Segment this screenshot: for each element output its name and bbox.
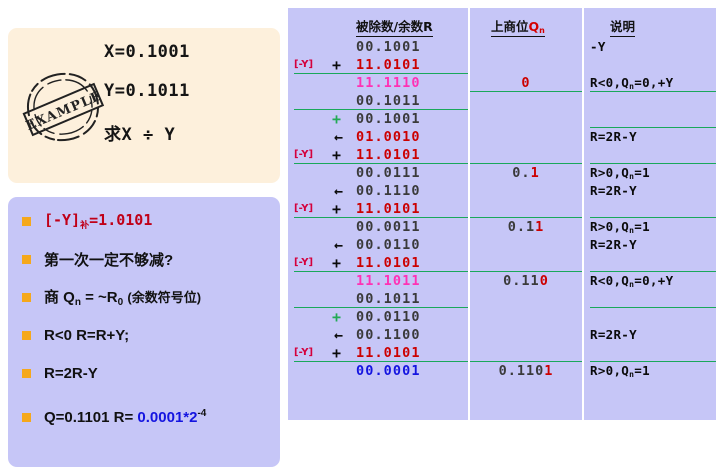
q-subscript: n xyxy=(629,370,634,379)
table-row: 11.10110.110R<0,Qn=0,+Y xyxy=(288,272,716,290)
plus-operator-icon: + xyxy=(332,254,341,272)
plus-operator-icon: + xyxy=(332,200,341,218)
table-row: 00.00110.11R>0,Qn=1 xyxy=(288,218,716,236)
cell-dividend-remainder: +00.1001 xyxy=(288,110,468,128)
cell-explanation: R=2R-Y xyxy=(590,128,716,146)
bullet-square-icon xyxy=(22,413,31,422)
left-shift-arrow-icon: ← xyxy=(334,128,343,146)
cell-dividend-remainder: [-Y]+11.0101 xyxy=(288,56,468,74)
note-parenthetical: (余数符号位) xyxy=(127,290,201,305)
cell-dividend-remainder: 00.0001 xyxy=(288,362,468,380)
neg-y-tag: [-Y] xyxy=(294,200,313,218)
cell-quotient-bit xyxy=(470,254,582,272)
note-first-step-question: 第一次一定不够减? xyxy=(22,249,173,269)
notes-card: [-Y]补=1.0101 第一次一定不够减? 商 Qn = ~R0 (余数符号位… xyxy=(8,197,280,467)
cell-explanation xyxy=(590,92,716,110)
table-row: 00.1001-Y xyxy=(288,38,716,56)
binary-value: 11.0101 xyxy=(356,200,421,218)
note-text: R=2R-Y xyxy=(44,365,98,382)
subscript-bu: 补 xyxy=(80,221,89,231)
table-row: +00.1001 xyxy=(288,110,716,128)
quotient-new-bit: 1 xyxy=(544,363,553,379)
binary-value: 00.0111 xyxy=(356,164,421,182)
equation-y: Y=0.1011 xyxy=(104,81,280,101)
quotient-new-bit: 0 xyxy=(521,75,530,91)
header-q-subscript: n xyxy=(539,26,545,35)
left-shift-arrow-icon: ← xyxy=(334,182,343,200)
cell-quotient-bit xyxy=(470,128,582,146)
header-explanation: 说明 xyxy=(610,16,635,37)
cell-quotient-bit xyxy=(470,290,582,308)
cell-dividend-remainder: 00.0111 xyxy=(288,164,468,182)
task-expression: X ÷ Y xyxy=(122,125,176,145)
plus-operator-icon: + xyxy=(332,308,341,326)
cell-quotient-bit xyxy=(470,236,582,254)
cell-dividend-remainder: ←00.0110 xyxy=(288,236,468,254)
cell-quotient-bit: 0.1101 xyxy=(470,362,582,380)
binary-value: 00.1011 xyxy=(356,290,421,308)
binary-value: 00.1110 xyxy=(356,182,421,200)
header-dividend-remainder: 被除数/余数R xyxy=(356,16,433,37)
table-row: [-Y]+11.0101 xyxy=(288,344,716,362)
cell-explanation xyxy=(590,110,716,128)
binary-value: 11.1011 xyxy=(356,272,421,290)
equation-x: X=0.1001 xyxy=(104,42,280,62)
binary-value: 00.0110 xyxy=(356,236,421,254)
cell-quotient-bit xyxy=(470,200,582,218)
cell-explanation xyxy=(590,254,716,272)
cell-quotient-bit xyxy=(470,326,582,344)
binary-value: 00.0110 xyxy=(356,308,421,326)
table-row: ←00.0110R=2R-Y xyxy=(288,236,716,254)
cell-explanation: R>0,Qn=1 xyxy=(590,362,716,380)
cell-explanation: -Y xyxy=(590,38,716,56)
cell-explanation: R<0,Qn=0,+Y xyxy=(590,272,716,290)
cell-quotient-bit xyxy=(470,110,582,128)
binary-value: 11.0101 xyxy=(356,344,421,362)
binary-value: 00.1001 xyxy=(356,38,421,56)
neg-y-tag: [-Y] xyxy=(294,56,313,74)
note-quotient-rule: 商 Qn = ~R0 (余数符号位) xyxy=(22,287,201,307)
equation-task: 求X ÷ Y xyxy=(104,120,280,145)
cell-explanation xyxy=(590,308,716,326)
bullet-square-icon xyxy=(22,331,31,340)
binary-value: 11.0101 xyxy=(356,146,421,164)
note-text: Q=0.1101 R= 0.0001*2-4 xyxy=(44,408,206,426)
left-shift-arrow-icon: ← xyxy=(334,326,343,344)
note-text: 第一次一定不够减? xyxy=(44,249,173,270)
cell-dividend-remainder: 11.1011 xyxy=(288,272,468,290)
cell-dividend-remainder: ←01.0010 xyxy=(288,128,468,146)
quotient-new-bit: 1 xyxy=(531,165,540,181)
cell-explanation: R>0,Qn=1 xyxy=(590,218,716,236)
table-row: 00.1011 xyxy=(288,92,716,110)
binary-value: 00.1001 xyxy=(356,110,421,128)
left-shift-arrow-icon: ← xyxy=(334,236,343,254)
neg-y-tag: [-Y] xyxy=(294,254,313,272)
bullet-square-icon xyxy=(22,255,31,264)
table-row: +00.0110 xyxy=(288,308,716,326)
result-remainder: 0.0001*2 xyxy=(137,409,197,426)
cell-quotient-bit: 0.110 xyxy=(470,272,582,290)
table-row: [-Y]+11.0101 xyxy=(288,200,716,218)
table-row: [-Y]+11.0101 xyxy=(288,56,716,74)
header-q-symbol: Q xyxy=(529,19,540,34)
cell-quotient-bit xyxy=(470,92,582,110)
table-row: 00.00010.1101R>0,Qn=1 xyxy=(288,362,716,380)
quotient-prefix: 0.110 xyxy=(499,363,545,379)
cell-explanation: R>0,Qn=1 xyxy=(590,164,716,182)
binary-value: 11.0101 xyxy=(356,254,421,272)
note-text: R<0 R=R+Y; xyxy=(44,327,129,344)
note-text: [-Y]补=1.0101 xyxy=(44,211,152,231)
table-row: 00.1011 xyxy=(288,290,716,308)
binary-value: 11.1110 xyxy=(356,74,421,92)
cell-dividend-remainder: +00.0110 xyxy=(288,308,468,326)
cell-dividend-remainder: 00.1011 xyxy=(288,92,468,110)
subscript-0: 0 xyxy=(118,297,124,308)
bullet-square-icon xyxy=(22,369,31,378)
binary-value: 00.1100 xyxy=(356,326,421,344)
quotient-new-bit: 1 xyxy=(535,219,544,235)
note-negative-remainder-rule: R<0 R=R+Y; xyxy=(22,325,129,345)
cell-explanation: R=2R-Y xyxy=(590,236,716,254)
cell-dividend-remainder: 00.0011 xyxy=(288,218,468,236)
cell-dividend-remainder: 11.1110 xyxy=(288,74,468,92)
division-trace-table: 被除数/余数R 上商位Qn 说明 00.1001-Y[-Y]+11.010111… xyxy=(288,8,716,420)
quotient-new-bit: 0 xyxy=(540,273,549,289)
q-subscript: n xyxy=(629,280,634,289)
plus-operator-icon: + xyxy=(332,344,341,362)
binary-value: 00.0001 xyxy=(356,362,421,380)
table-row: 00.01110.1R>0,Qn=1 xyxy=(288,164,716,182)
header-quotient-bit: 上商位Qn xyxy=(491,16,545,37)
cell-dividend-remainder: ←00.1100 xyxy=(288,326,468,344)
cell-quotient-bit: 0.1 xyxy=(470,164,582,182)
table-row: 11.11100R<0,Qn=0,+Y xyxy=(288,74,716,92)
note-shift-rule: R=2R-Y xyxy=(22,363,98,383)
binary-value: 11.0101 xyxy=(356,56,421,74)
cell-quotient-bit xyxy=(470,308,582,326)
neg-y-tag: [-Y] xyxy=(294,344,313,362)
neg-y-tag: [-Y] xyxy=(294,146,313,164)
cell-explanation: R=2R-Y xyxy=(590,182,716,200)
cell-dividend-remainder: [-Y]+11.0101 xyxy=(288,344,468,362)
result-exponent: -4 xyxy=(197,408,206,419)
binary-value: 00.0011 xyxy=(356,218,421,236)
cell-explanation xyxy=(590,56,716,74)
plus-operator-icon: + xyxy=(332,56,341,74)
subscript-n: n xyxy=(75,297,81,308)
table-row: ←00.1100R=2R-Y xyxy=(288,326,716,344)
cell-quotient-bit xyxy=(470,146,582,164)
cell-explanation xyxy=(590,290,716,308)
cell-dividend-remainder: ←00.1110 xyxy=(288,182,468,200)
cell-explanation xyxy=(590,344,716,362)
table-row: ←01.0010R=2R-Y xyxy=(288,128,716,146)
q-subscript: n xyxy=(629,82,634,91)
q-subscript: n xyxy=(629,172,634,181)
cell-quotient-bit xyxy=(470,182,582,200)
plus-operator-icon: + xyxy=(332,110,341,128)
plus-operator-icon: + xyxy=(332,146,341,164)
cell-dividend-remainder: [-Y]+11.0101 xyxy=(288,146,468,164)
bullet-square-icon xyxy=(22,293,31,302)
note-result: Q=0.1101 R= 0.0001*2-4 xyxy=(22,407,206,427)
cell-dividend-remainder: 00.1001 xyxy=(288,38,468,56)
cell-explanation: R<0,Qn=0,+Y xyxy=(590,74,716,92)
quotient-prefix: 0. xyxy=(512,165,530,181)
quotient-prefix: 0.11 xyxy=(503,273,540,289)
example-card: EXAMPLE X=0.1001 Y=0.1011 求X ÷ Y xyxy=(8,28,280,183)
cell-explanation xyxy=(590,146,716,164)
example-stamp-icon: EXAMPLE xyxy=(14,59,113,155)
cell-quotient-bit xyxy=(470,56,582,74)
cell-explanation: R=2R-Y xyxy=(590,326,716,344)
task-prefix: 求 xyxy=(104,125,122,145)
table-header-row: 被除数/余数R 上商位Qn 说明 xyxy=(288,16,716,36)
cell-quotient-bit: 0.11 xyxy=(470,218,582,236)
binary-value: 00.1011 xyxy=(356,92,421,110)
q-subscript: n xyxy=(629,226,634,235)
table-row: [-Y]+11.0101 xyxy=(288,146,716,164)
note-neg-y-complement: [-Y]补=1.0101 xyxy=(22,211,152,231)
example-equations: X=0.1001 Y=0.1011 求X ÷ Y xyxy=(104,42,280,164)
binary-value: 01.0010 xyxy=(356,128,421,146)
bullet-square-icon xyxy=(22,217,31,226)
cell-quotient-bit xyxy=(470,344,582,362)
cell-quotient-bit xyxy=(470,38,582,56)
quotient-prefix: 0.1 xyxy=(508,219,535,235)
cell-dividend-remainder: [-Y]+11.0101 xyxy=(288,200,468,218)
note-text: 商 Qn = ~R0 (余数符号位) xyxy=(44,286,201,308)
cell-explanation xyxy=(590,200,716,218)
table-row: [-Y]+11.0101 xyxy=(288,254,716,272)
cell-quotient-bit: 0 xyxy=(470,74,582,92)
cell-dividend-remainder: [-Y]+11.0101 xyxy=(288,254,468,272)
cell-dividend-remainder: 00.1011 xyxy=(288,290,468,308)
table-row: ←00.1110R=2R-Y xyxy=(288,182,716,200)
